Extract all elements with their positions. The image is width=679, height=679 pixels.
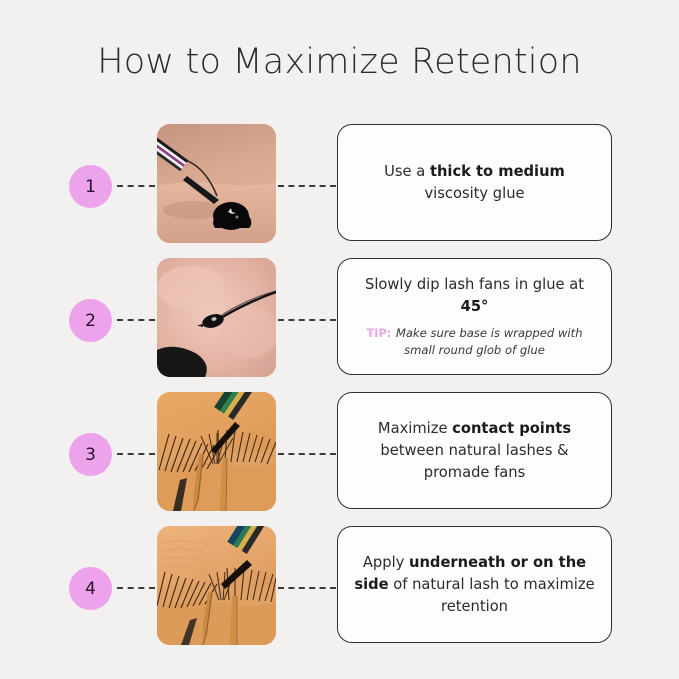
step-card-1: Use a thick to medium viscosity glue (337, 124, 612, 241)
tip-label: TIP: (366, 326, 391, 340)
text-fragment: retention (441, 598, 508, 615)
step-number-label-2: 2 (85, 311, 96, 331)
text-fragment-bold: contact points (452, 420, 571, 437)
connector-image-to-card-3 (278, 453, 336, 455)
step-card-4: Apply underneath or on the side of natur… (337, 526, 612, 643)
step-number-badge-3: 3 (69, 433, 112, 476)
text-fragment: viscosity glue (424, 185, 524, 202)
connector-badge-to-image-4 (117, 587, 155, 589)
step-card-2: Slowly dip lash fans in glue at 45° TIP:… (337, 258, 612, 375)
step-row-2: 2 (0, 258, 679, 389)
text-fragment-bold: 45° (461, 298, 489, 315)
step-image-2 (157, 258, 276, 377)
step-text-line: Slowly dip lash fans in glue at 45° (354, 274, 595, 318)
text-fragment: promade fans (424, 464, 526, 481)
step-image-1 (157, 124, 276, 243)
step-text-line: Maximize contact points (378, 418, 571, 440)
text-fragment: Slowly dip lash fans in glue at (365, 276, 584, 293)
step-text-line: viscosity glue (424, 183, 524, 205)
step-text-line: retention (441, 596, 508, 618)
text-fragment: of natural lash to maximize (389, 576, 595, 593)
step-image-4 (157, 526, 276, 645)
step-text-line: between natural lashes & (380, 440, 568, 462)
connector-image-to-card-4 (278, 587, 336, 589)
infographic-page: How to Maximize Retention 1 (0, 0, 679, 679)
steps-list: 1 (0, 124, 679, 648)
step-text-line: Use a thick to medium (384, 161, 565, 183)
tip-block: TIP: Make sure base is wrapped with smal… (366, 324, 582, 359)
step-number-badge-2: 2 (69, 299, 112, 342)
connector-image-to-card-2 (278, 319, 336, 321)
text-fragment: between natural lashes & (380, 442, 568, 459)
text-fragment: Use a (384, 163, 430, 180)
text-fragment-bold: underneath or on the (409, 554, 586, 571)
step-image-3 (157, 392, 276, 511)
connector-image-to-card-1 (278, 185, 336, 187)
tip-text-line2: small round glob of glue (366, 342, 582, 359)
page-title: How to Maximize Retention (0, 42, 679, 82)
step-row-4: 4 (0, 526, 679, 657)
step-number-badge-4: 4 (69, 567, 112, 610)
connector-badge-to-image-3 (117, 453, 155, 455)
step-number-label-1: 1 (85, 177, 96, 197)
step-row-3: 3 (0, 392, 679, 523)
step-number-badge-1: 1 (69, 165, 112, 208)
step-text-line: Apply underneath or on the (363, 552, 586, 574)
step-card-3: Maximize contact points between natural … (337, 392, 612, 509)
step-number-label-3: 3 (85, 445, 96, 465)
connector-badge-to-image-2 (117, 319, 155, 321)
step-text-line: promade fans (424, 462, 526, 484)
text-fragment: Maximize (378, 420, 452, 437)
connector-badge-to-image-1 (117, 185, 155, 187)
text-fragment: Apply (363, 554, 409, 571)
step-row-1: 1 (0, 124, 679, 255)
step-number-label-4: 4 (85, 579, 96, 599)
text-fragment-bold: side (354, 576, 388, 593)
step-text-line: side of natural lash to maximize (354, 574, 594, 596)
text-fragment-bold: thick to medium (430, 163, 565, 180)
tip-text-line1: Make sure base is wrapped with (396, 326, 583, 340)
